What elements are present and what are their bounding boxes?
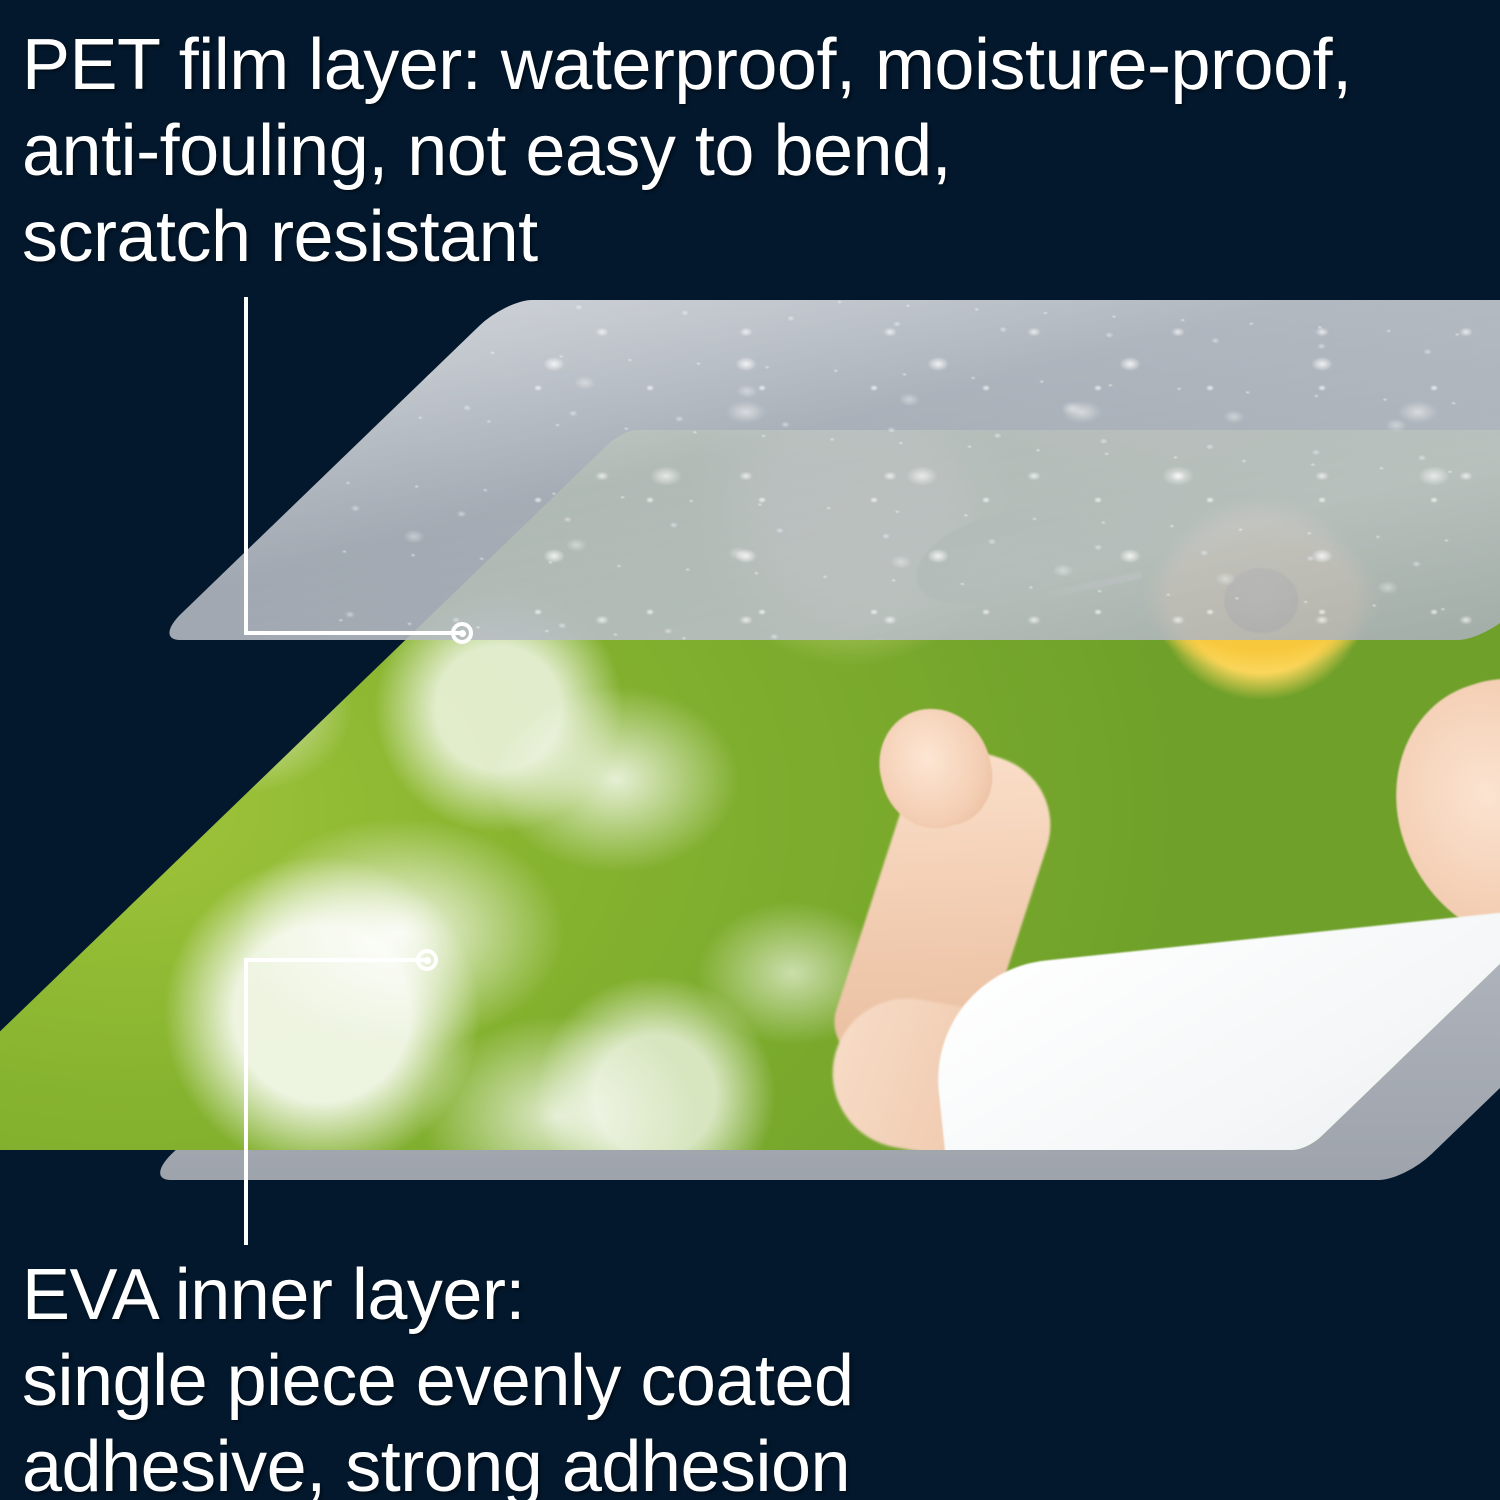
pet-layer-marker bbox=[451, 622, 473, 644]
pet-film-layer-callout-text: PET film layer: waterproof, moisture-pro… bbox=[22, 22, 1352, 280]
product-infographic: PET film layer: waterproof, moisture-pro… bbox=[0, 0, 1500, 1500]
eva-leader-horizontal bbox=[244, 958, 428, 962]
pet-leader-horizontal bbox=[244, 631, 460, 635]
pet-leader-vertical bbox=[244, 297, 248, 635]
film-sheen bbox=[154, 300, 1500, 640]
pet-film-sheet bbox=[154, 300, 1500, 640]
eva-leader-vertical bbox=[244, 958, 248, 1245]
eva-inner-layer-callout-text: EVA inner layer: single piece evenly coa… bbox=[22, 1252, 854, 1500]
eva-layer-marker bbox=[416, 949, 438, 971]
